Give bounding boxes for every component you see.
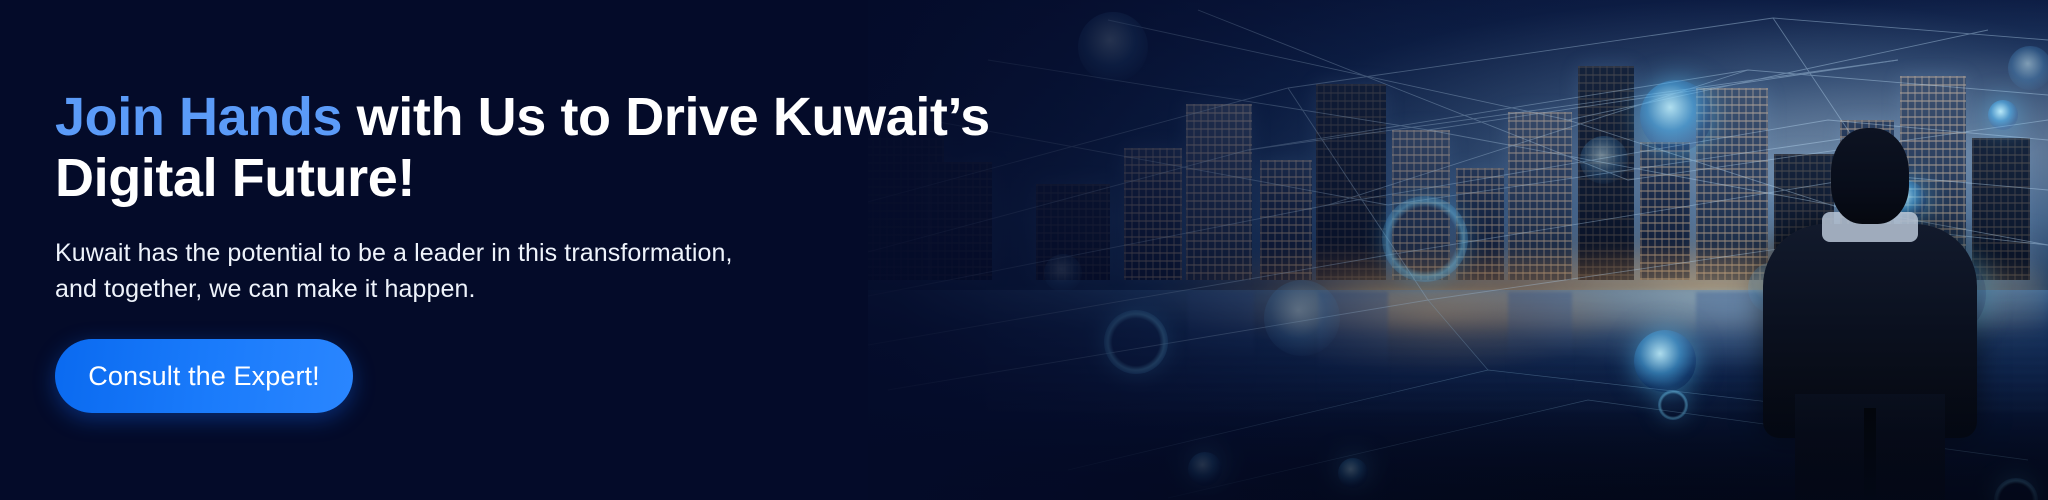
banner-content: Join Hands with Us to Drive Kuwait’s Dig… [55,0,1115,500]
consult-the-expert-button[interactable]: Consult the Expert! [55,339,353,413]
subcopy-line1: Kuwait has the potential to be a leader … [55,239,733,267]
banner-headline: Join Hands with Us to Drive Kuwait’s Dig… [55,87,1115,209]
headline-line2: Digital Future! [55,148,415,208]
headline-accent-text: Join Hands [55,87,342,147]
banner-subcopy: Kuwait has the potential to be a leader … [55,235,1115,307]
subcopy-line2: and together, we can make it happen. [55,275,476,303]
headline-rest-line1: with Us to Drive Kuwait’s [342,87,990,147]
cta-banner: Join Hands with Us to Drive Kuwait’s Dig… [0,0,2048,500]
